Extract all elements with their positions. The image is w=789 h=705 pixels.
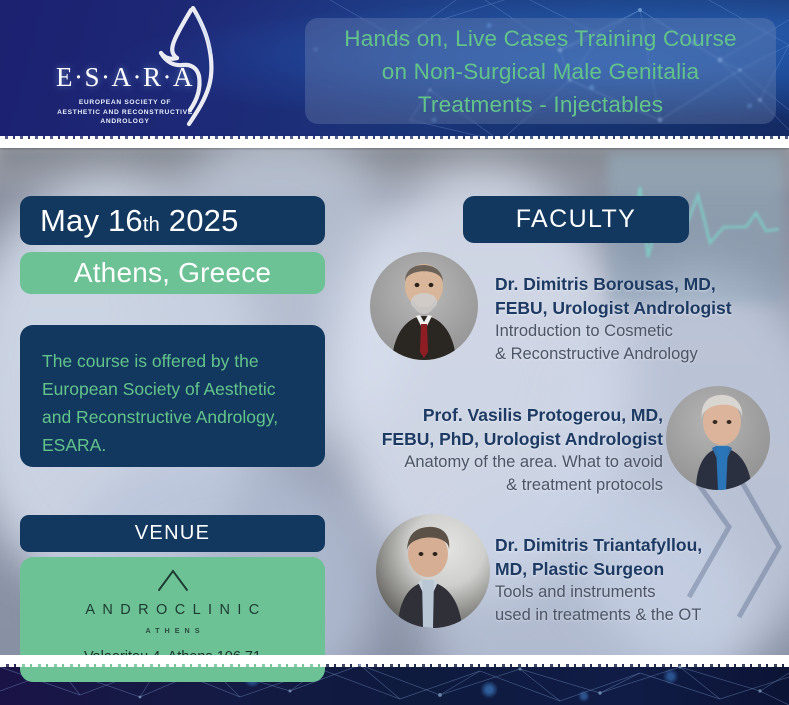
venue-heading-badge: VENUE [20,515,325,552]
esara-logo: E·S·A·R·A EUROPEAN SOCIETY OF AESTHETIC … [36,10,241,130]
event-location-text: Athens, Greece [74,257,271,289]
faculty-2-topic-line-2: & treatment protocols [343,474,663,497]
course-title-line-2: on Non-Surgical Male Genitalia [382,55,699,88]
faculty-avatar-2 [666,386,770,490]
faculty-1-name-line-2: FEBU, Urologist Andrologist [495,296,785,320]
logo-subtitle-line-3: ANDROLOGY [36,117,214,127]
event-poster: E·S·A·R·A EUROPEAN SOCIETY OF AESTHETIC … [0,0,789,705]
faculty-3-name-line-2: MD, Plastic Surgeon [495,557,785,581]
venue-heading-text: VENUE [135,522,210,545]
logo-subtitle-line-2: AESTHETIC AND RECONSTRUCTIVE [36,108,214,118]
faculty-3-topic-line-2: used in treatments & the OT [495,604,785,627]
poster-header: E·S·A·R·A EUROPEAN SOCIETY OF AESTHETIC … [0,0,789,141]
faculty-member-1: Dr. Dimitris Borousas, MD, FEBU, Urologi… [495,272,785,366]
faculty-1-name-line-1: Dr. Dimitris Borousas, MD, [495,272,785,296]
venue-clinic-subtitle: ATHENS [140,626,204,635]
course-title-line-3: Treatments - Injectables [418,88,663,121]
logo-subtitle-line-1: EUROPEAN SOCIETY OF [36,98,214,108]
venue-clinic-name: ANDROCLINIC [78,602,266,618]
footer-divider [0,655,789,664]
logo-acronym: E·S·A·R·A [36,62,214,93]
event-date-suffix: th [143,214,160,236]
portrait-dimitris-borousas [370,252,478,360]
portrait-dimitris-triantafyllou [376,514,490,628]
event-date-year: 2025 [169,203,239,238]
logo-subtitle: EUROPEAN SOCIETY OF AESTHETIC AND RECONS… [36,98,214,127]
faculty-2-name-line-1: Prof. Vasilis Protogerou, MD, [343,403,663,427]
faculty-member-3: Dr. Dimitris Triantafyllou, MD, Plastic … [495,533,785,627]
faculty-heading-text: FACULTY [516,205,636,234]
portrait-vasilis-protogerou [666,386,770,490]
event-location-badge: Athens, Greece [20,252,325,294]
faculty-1-topic-line-1: Introduction to Cosmetic [495,320,785,343]
course-description-panel: The course is offered by the European So… [20,325,325,467]
event-date-badge: May 16th 2025 [20,196,325,245]
event-date-day: May 16 [40,203,143,238]
faculty-avatar-1 [370,252,478,360]
faculty-2-topic-line-1: Anatomy of the area. What to avoid [343,451,663,474]
course-title-line-1: Hands on, Live Cases Training Course [344,22,736,55]
faculty-heading-badge: FACULTY [463,196,689,243]
event-date-text: May 16th 2025 [40,203,239,239]
faculty-member-2: Prof. Vasilis Protogerou, MD, FEBU, PhD,… [343,403,663,497]
faculty-2-name-line-2: FEBU, PhD, Urologist Andrologist [343,427,663,451]
course-title-panel: Hands on, Live Cases Training Course on … [305,18,776,124]
faculty-avatar-3 [376,514,490,628]
faculty-3-topic-line-1: Tools and instruments [495,581,785,604]
faculty-3-name-line-1: Dr. Dimitris Triantafyllou, [495,533,785,557]
course-description-text: The course is offered by the European So… [42,347,303,459]
faculty-1-topic-line-2: & Reconstructive Andrology [495,343,785,366]
header-divider [0,139,789,148]
androclinic-chevron-icon [156,568,190,592]
